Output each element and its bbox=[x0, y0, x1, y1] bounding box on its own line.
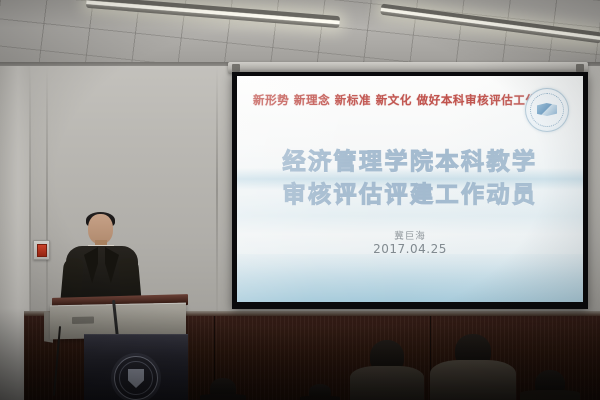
alarm-button-glyph bbox=[37, 244, 47, 257]
list-item bbox=[430, 334, 516, 400]
slide-headline: 新形势 新理念 新标准 新文化 做好本科审核评估工作 bbox=[253, 92, 517, 108]
lecture-hall-photo: 新形势 新理念 新标准 新文化 做好本科审核评估工作 经济管理学院本科教学 审核… bbox=[0, 0, 600, 400]
slide-surface: 新形势 新理念 新标准 新文化 做好本科审核评估工作 经济管理学院本科教学 审核… bbox=[237, 76, 583, 302]
slide-title-line-1: 经济管理学院本科教学 bbox=[237, 142, 583, 176]
list-item bbox=[300, 384, 340, 400]
lectern-front-panel bbox=[84, 334, 188, 400]
attendee-shoulders bbox=[300, 396, 340, 400]
slide-presentation-date: 2017.04.25 bbox=[237, 242, 583, 256]
list-item bbox=[520, 370, 580, 400]
lectern-brand-mark bbox=[72, 317, 94, 324]
slide-accent-band-lower bbox=[237, 254, 583, 302]
attendee-shoulders bbox=[350, 366, 424, 400]
university-seal-icon bbox=[114, 356, 158, 400]
slide-presenter-name: 冀巨海 bbox=[237, 228, 583, 242]
university-emblem-icon bbox=[525, 88, 569, 132]
slide-title-line-2: 审核评估评建工作动员 bbox=[237, 175, 583, 209]
wall-seam-c bbox=[216, 66, 218, 316]
attendee-shoulders bbox=[200, 394, 246, 400]
attendee-shoulders bbox=[520, 390, 580, 400]
roller-end-cap-left bbox=[232, 64, 240, 72]
roller-end-cap-right bbox=[576, 64, 584, 72]
list-item bbox=[350, 340, 424, 400]
fire-alarm-call-point-icon bbox=[33, 240, 50, 260]
projection-screen: 新形势 新理念 新标准 新文化 做好本科审核评估工作 经济管理学院本科教学 审核… bbox=[232, 72, 588, 309]
emblem-book-mark bbox=[537, 103, 557, 116]
ceiling-tile-grid bbox=[0, 0, 600, 70]
presenter bbox=[58, 214, 144, 304]
list-item bbox=[200, 378, 246, 400]
attendee-shoulders bbox=[430, 360, 516, 400]
